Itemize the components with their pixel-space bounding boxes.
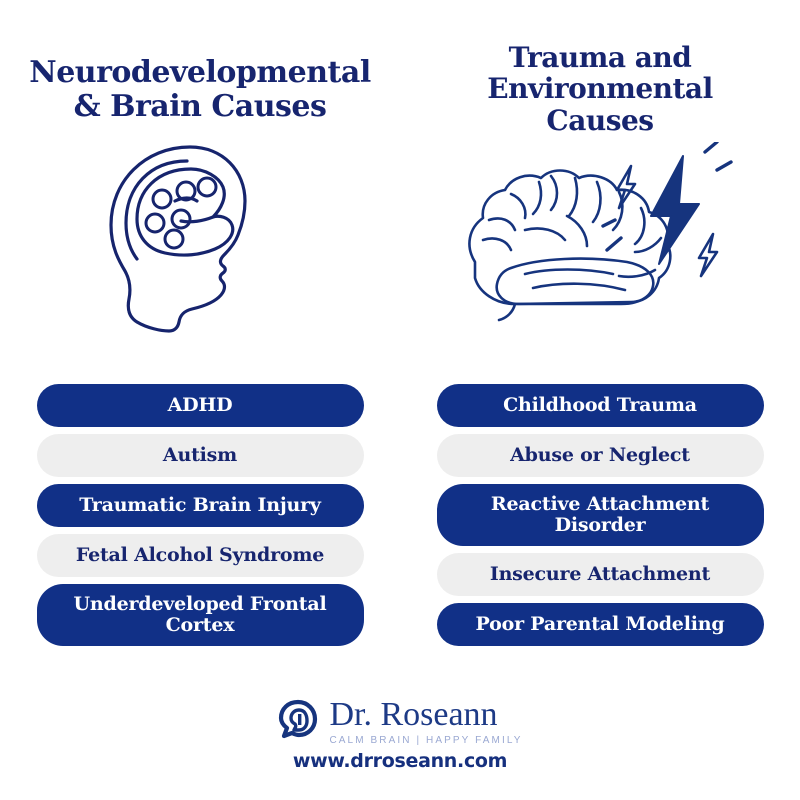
brand-text: Dr. Roseann CALM BRAIN | HAPPY FAMILY: [329, 698, 522, 746]
column-neurodevelopmental: Neurodevelopmental & Brain Causes: [0, 0, 400, 680]
cause-pill[interactable]: Reactive Attachment Disorder: [437, 484, 764, 546]
head-profile-brain-nodes-icon: [0, 139, 400, 339]
brain-lightning-bolt-icon: [400, 142, 800, 342]
causes-columns: Neurodevelopmental & Brain Causes: [0, 0, 800, 680]
column-trauma-environmental: Trauma and Environmental Causes: [400, 0, 800, 680]
brand-tagline: CALM BRAIN | HAPPY FAMILY: [329, 735, 522, 746]
column-title-neurodevelopmental: Neurodevelopmental & Brain Causes: [15, 56, 385, 123]
dr-roseann-head-circle-logo: [277, 699, 319, 746]
cause-pill[interactable]: Autism: [37, 434, 364, 477]
cause-pill[interactable]: Childhood Trauma: [437, 384, 764, 427]
title-line: Neurodevelopmental: [15, 56, 385, 90]
cause-pill[interactable]: ADHD: [37, 384, 364, 427]
title-line: & Brain Causes: [15, 90, 385, 124]
cause-pill[interactable]: Insecure Attachment: [437, 553, 764, 596]
cause-pill[interactable]: Abuse or Neglect: [437, 434, 764, 477]
brand-name: Dr. Roseann: [329, 698, 497, 732]
column-title-trauma-environmental: Trauma and Environmental Causes: [435, 42, 765, 136]
website-url[interactable]: www.drroseann.com: [293, 750, 507, 772]
title-line: Causes: [435, 105, 765, 136]
title-line: Trauma and: [435, 42, 765, 73]
footer: Dr. Roseann CALM BRAIN | HAPPY FAMILY ww…: [0, 698, 800, 772]
causes-list-trauma-environmental: Childhood Trauma Abuse or Neglect Reacti…: [400, 384, 800, 646]
cause-pill[interactable]: Traumatic Brain Injury: [37, 484, 364, 527]
causes-list-neurodevelopmental: ADHD Autism Traumatic Brain Injury Fetal…: [0, 384, 400, 646]
infographic-page: Neurodevelopmental & Brain Causes: [0, 0, 800, 800]
brand-logo[interactable]: Dr. Roseann CALM BRAIN | HAPPY FAMILY: [277, 698, 522, 746]
cause-pill[interactable]: Underdeveloped Frontal Cortex: [37, 584, 364, 646]
cause-pill[interactable]: Poor Parental Modeling: [437, 603, 764, 646]
cause-pill[interactable]: Fetal Alcohol Syndrome: [37, 534, 364, 577]
title-line: Environmental: [435, 73, 765, 104]
